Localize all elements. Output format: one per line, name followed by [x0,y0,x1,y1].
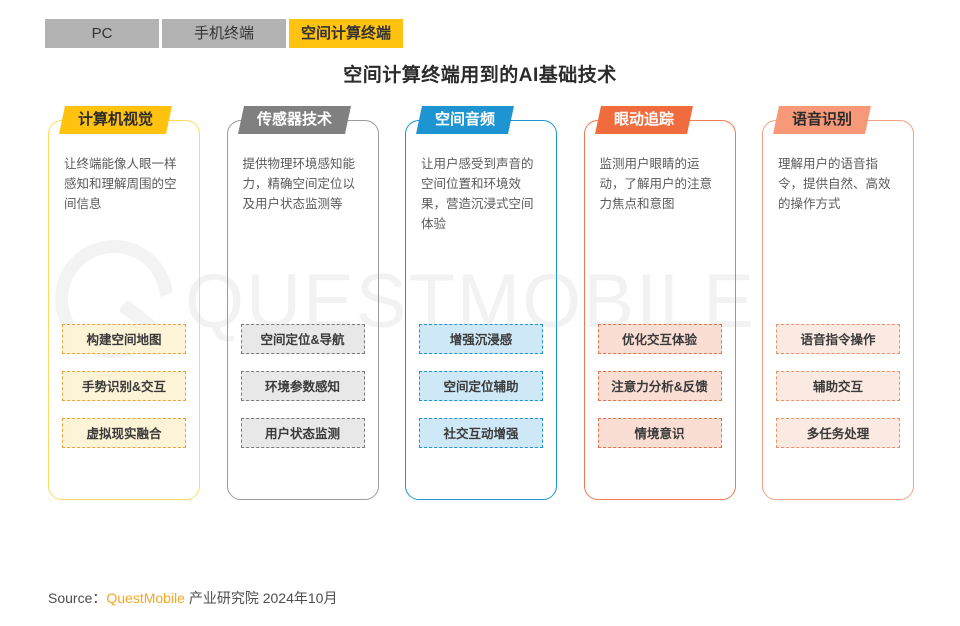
technology-chip[interactable]: 多任务处理 [776,418,900,448]
technology-chip[interactable]: 手势识别&交互 [62,371,186,401]
page-title: 空间计算终端用到的AI基础技术 [0,60,960,87]
technology-column: 语音识别理解用户的语音指令，提供自然、高效的操作方式语音指令操作辅助交互多任务处… [762,106,914,500]
technology-chip[interactable]: 构建空间地图 [62,324,186,354]
technology-column: 空间音频让用户感受到声音的空间位置和环境效果，营造沉浸式空间体验增强沉浸感空间定… [405,106,557,500]
technology-chip[interactable]: 辅助交互 [776,371,900,401]
technology-chip[interactable]: 社交互动增强 [419,418,543,448]
technology-badge-label: 语音识别 [792,106,852,134]
technology-chip-list: 语音指令操作辅助交互多任务处理 [776,324,900,448]
source-brand: QuestMobile [106,590,185,606]
technology-chip[interactable]: 虚拟现实融合 [62,418,186,448]
technology-chip-list: 优化交互体验注意力分析&反馈情境意识 [598,324,722,448]
technology-badge-label: 计算机视觉 [78,106,153,134]
technology-badge: 计算机视觉 [59,106,172,134]
technology-chip-list: 增强沉浸感空间定位辅助社交互动增强 [419,324,543,448]
tab-pc[interactable]: PC [45,19,159,48]
technology-description: 理解用户的语音指令，提供自然、高效的操作方式 [778,154,902,214]
technology-description: 监测用户眼睛的运动，了解用户的注意力焦点和意图 [600,154,724,214]
technology-chip[interactable]: 增强沉浸感 [419,324,543,354]
source-suffix: 产业研究院 2024年10月 [185,590,338,606]
technology-column: 计算机视觉让终端能像人眼一样感知和理解周围的空间信息构建空间地图手势识别&交互虚… [48,106,200,500]
technology-description: 让终端能像人眼一样感知和理解周围的空间信息 [64,154,188,214]
technology-column: 传感器技术提供物理环境感知能力，精确空间定位以及用户状态监测等空间定位&导航环境… [227,106,379,500]
technology-chip-list: 构建空间地图手势识别&交互虚拟现实融合 [62,324,186,448]
technology-chip[interactable]: 空间定位辅助 [419,371,543,401]
technology-badge-label: 空间音频 [435,106,495,134]
tab-mobile-terminal[interactable]: 手机终端 [162,19,286,48]
technology-columns: 计算机视觉让终端能像人眼一样感知和理解周围的空间信息构建空间地图手势识别&交互虚… [48,106,914,506]
technology-badge: 眼动追踪 [595,106,693,134]
technology-chip[interactable]: 空间定位&导航 [241,324,365,354]
technology-chip[interactable]: 语音指令操作 [776,324,900,354]
terminal-type-tabs[interactable]: PC 手机终端 空间计算终端 [45,19,406,48]
technology-badge-label: 眼动追踪 [614,106,674,134]
technology-description: 让用户感受到声音的空间位置和环境效果，营造沉浸式空间体验 [421,154,545,234]
technology-description: 提供物理环境感知能力，精确空间定位以及用户状态监测等 [243,154,367,214]
technology-chip-list: 空间定位&导航环境参数感知用户状态监测 [241,324,365,448]
technology-chip[interactable]: 优化交互体验 [598,324,722,354]
technology-badge: 空间音频 [416,106,514,134]
technology-chip[interactable]: 情境意识 [598,418,722,448]
technology-badge: 传感器技术 [238,106,351,134]
technology-column: 眼动追踪监测用户眼睛的运动，了解用户的注意力焦点和意图优化交互体验注意力分析&反… [584,106,736,500]
technology-badge: 语音识别 [773,106,871,134]
technology-badge-label: 传感器技术 [257,106,332,134]
technology-chip[interactable]: 注意力分析&反馈 [598,371,722,401]
technology-chip[interactable]: 用户状态监测 [241,418,365,448]
tab-spatial-computing-terminal[interactable]: 空间计算终端 [289,19,403,48]
technology-chip[interactable]: 环境参数感知 [241,371,365,401]
source-prefix: Source： [48,590,106,606]
source-footer: Source：QuestMobile 产业研究院 2024年10月 [48,588,337,608]
